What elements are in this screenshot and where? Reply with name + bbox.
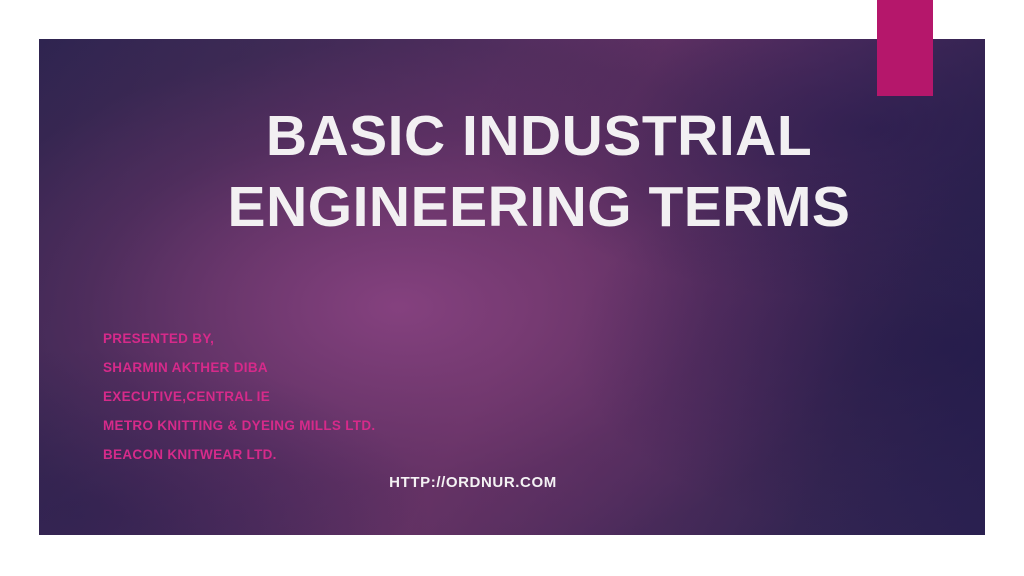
slide-content: BASIC INDUSTRIAL ENGINEERING TERMS PRESE… — [39, 39, 985, 535]
byline-block: PRESENTED BY, SHARMIN AKTHER DIBA EXECUT… — [103, 324, 743, 469]
byline-line-author-name: SHARMIN AKTHER DIBA — [103, 353, 743, 382]
byline-line-job-title: EXECUTIVE,CENTRAL IE — [103, 382, 743, 411]
title-line-1: BASIC INDUSTRIAL — [189, 101, 889, 172]
byline-line-company-2: BEACON KNITWEAR LTD. — [103, 440, 743, 469]
slide-canvas: BASIC INDUSTRIAL ENGINEERING TERMS PRESE… — [0, 0, 1024, 576]
title-line-2: ENGINEERING TERMS — [189, 172, 889, 243]
slide-title: BASIC INDUSTRIAL ENGINEERING TERMS — [189, 101, 889, 243]
byline-line-presented-by: PRESENTED BY, — [103, 324, 743, 353]
source-url: HTTP://ORDNUR.COM — [103, 474, 843, 491]
byline-line-company-1: METRO KNITTING & DYEING MILLS LTD. — [103, 411, 743, 440]
